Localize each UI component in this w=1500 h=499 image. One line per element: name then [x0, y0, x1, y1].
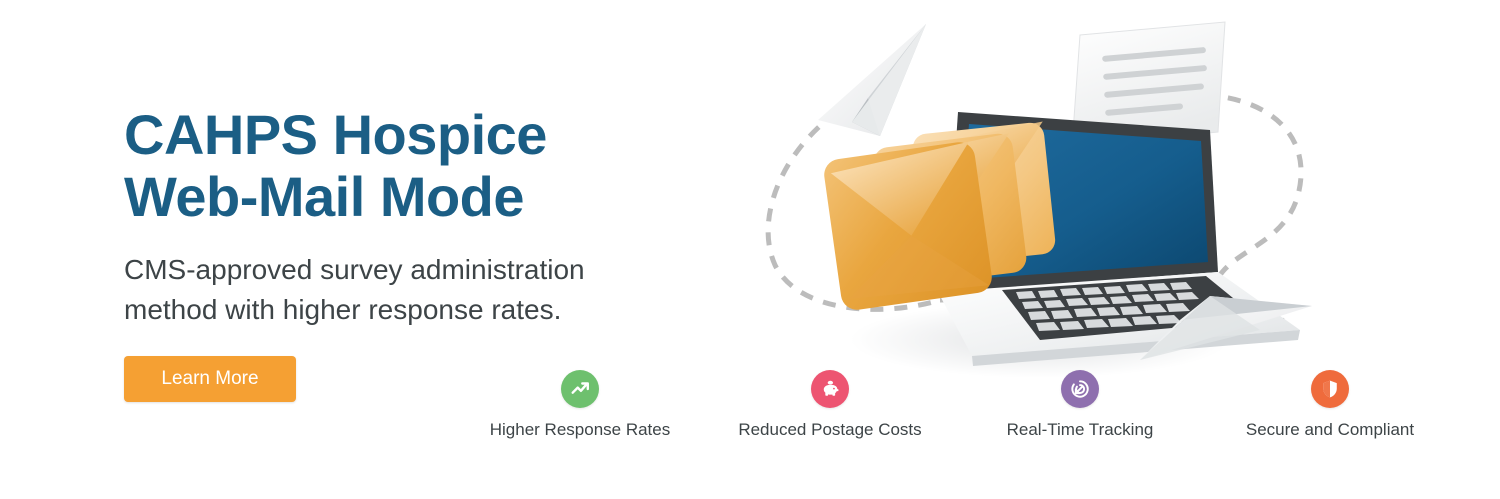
radar-target-icon	[1061, 370, 1099, 408]
paper-plane-icon-top	[818, 24, 926, 136]
hero-banner: CAHPS Hospice Web-Mail Mode CMS-approved…	[0, 0, 1500, 499]
feature-label: Real-Time Tracking	[1007, 420, 1154, 440]
shield-icon	[1311, 370, 1349, 408]
feature-label: Reduced Postage Costs	[738, 420, 921, 440]
feature-label: Secure and Compliant	[1246, 420, 1414, 440]
hero-copy: CAHPS Hospice Web-Mail Mode CMS-approved…	[124, 104, 724, 402]
feature-label: Higher Response Rates	[490, 420, 670, 440]
learn-more-button[interactable]: Learn More	[124, 356, 296, 402]
feature-item-real-time-tracking: Real-Time Tracking	[955, 370, 1205, 440]
feature-list: Higher Response Rates Reduced Postage Co…	[455, 370, 1455, 440]
envelope-front	[822, 140, 994, 312]
feature-item-secure-and-compliant: Secure and Compliant	[1205, 370, 1455, 440]
piggy-bank-icon	[811, 370, 849, 408]
feature-item-reduced-postage-costs: Reduced Postage Costs	[705, 370, 955, 440]
page-title: CAHPS Hospice Web-Mail Mode	[124, 104, 724, 228]
hero-subtitle: CMS-approved survey administration metho…	[124, 250, 724, 330]
feature-item-higher-response-rates: Higher Response Rates	[455, 370, 705, 440]
laptop-email-illustration	[740, 0, 1380, 400]
trending-up-icon	[561, 370, 599, 408]
